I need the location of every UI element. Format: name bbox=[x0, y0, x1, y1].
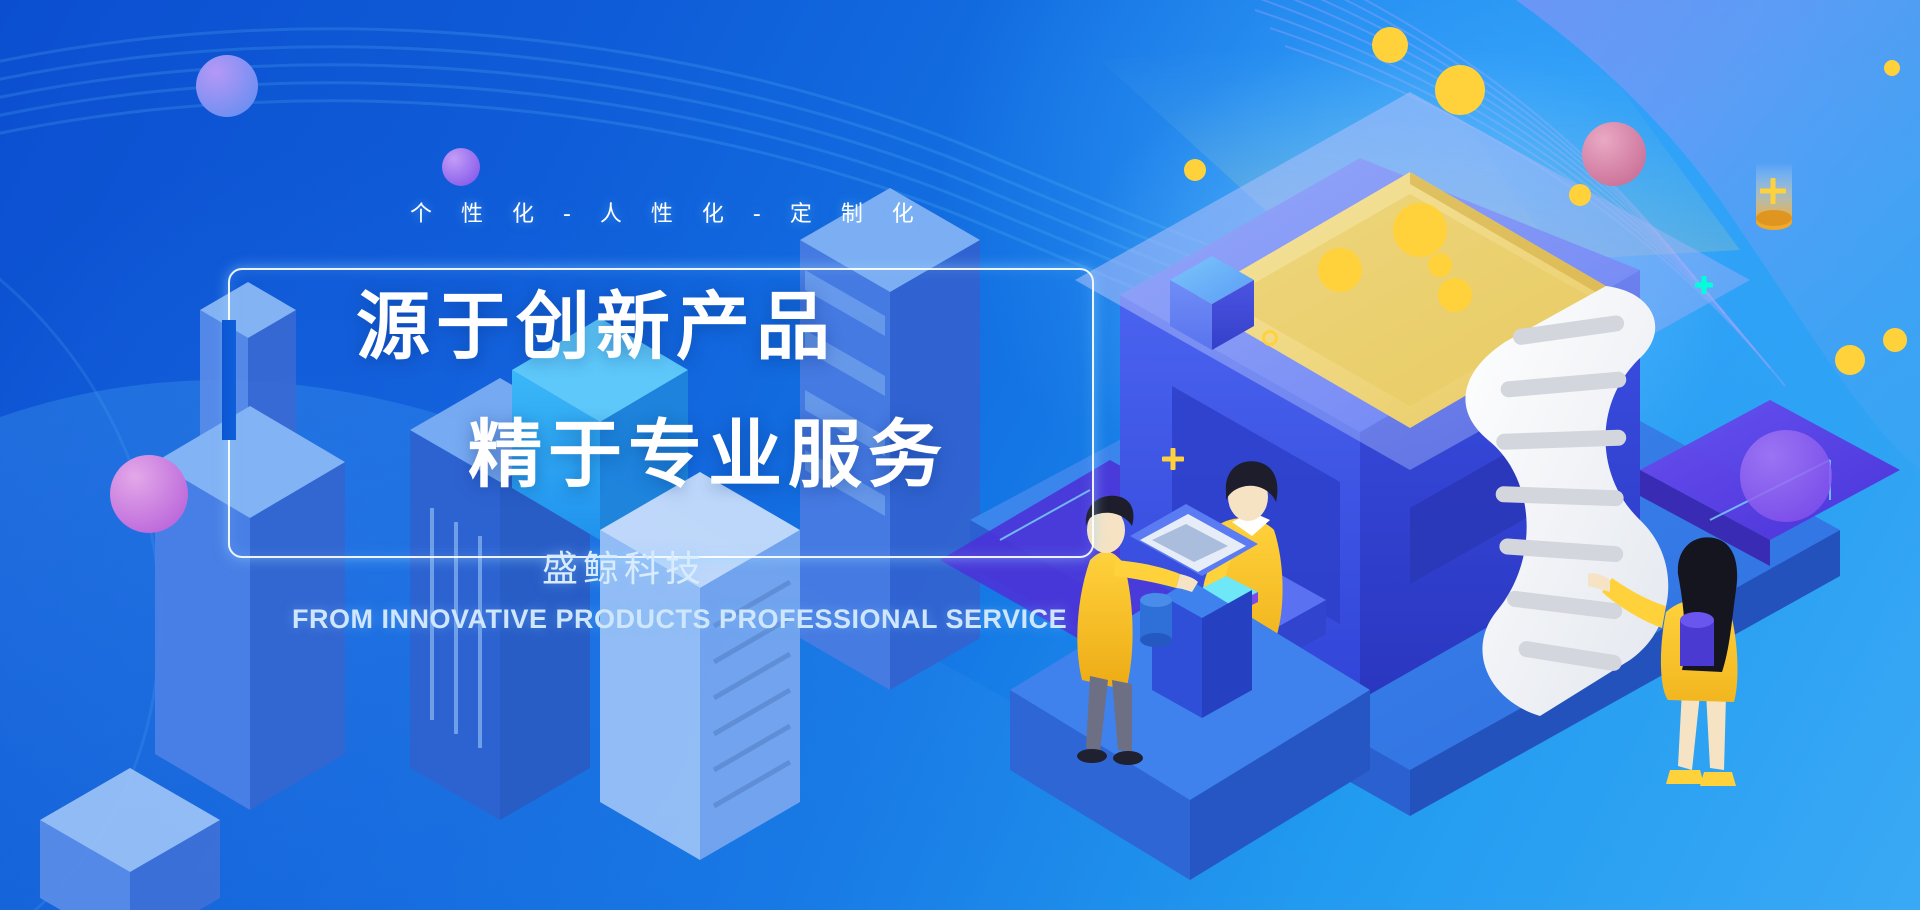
subtitle-english: FROM INNOVATIVE PRODUCTS PROFESSIONAL SE… bbox=[292, 604, 1067, 635]
sphere-blue-purple-top-left bbox=[196, 55, 258, 117]
company-name: 盛鲸科技 bbox=[542, 540, 706, 592]
tagline: 个 性 化 - 人 性 化 - 定 制 化 bbox=[410, 196, 925, 228]
promo-banner: 个 性 化 - 人 性 化 - 定 制 化 源于创新产品 精于专业服务 盛鲸科技… bbox=[0, 0, 1920, 910]
headline-line-1: 源于创新产品 bbox=[356, 290, 836, 364]
building-foreground-block bbox=[40, 768, 220, 910]
frame-gap-left bbox=[222, 320, 236, 440]
headline-line-2: 精于专业服务 bbox=[468, 418, 948, 492]
sphere-purple-small bbox=[442, 148, 480, 186]
